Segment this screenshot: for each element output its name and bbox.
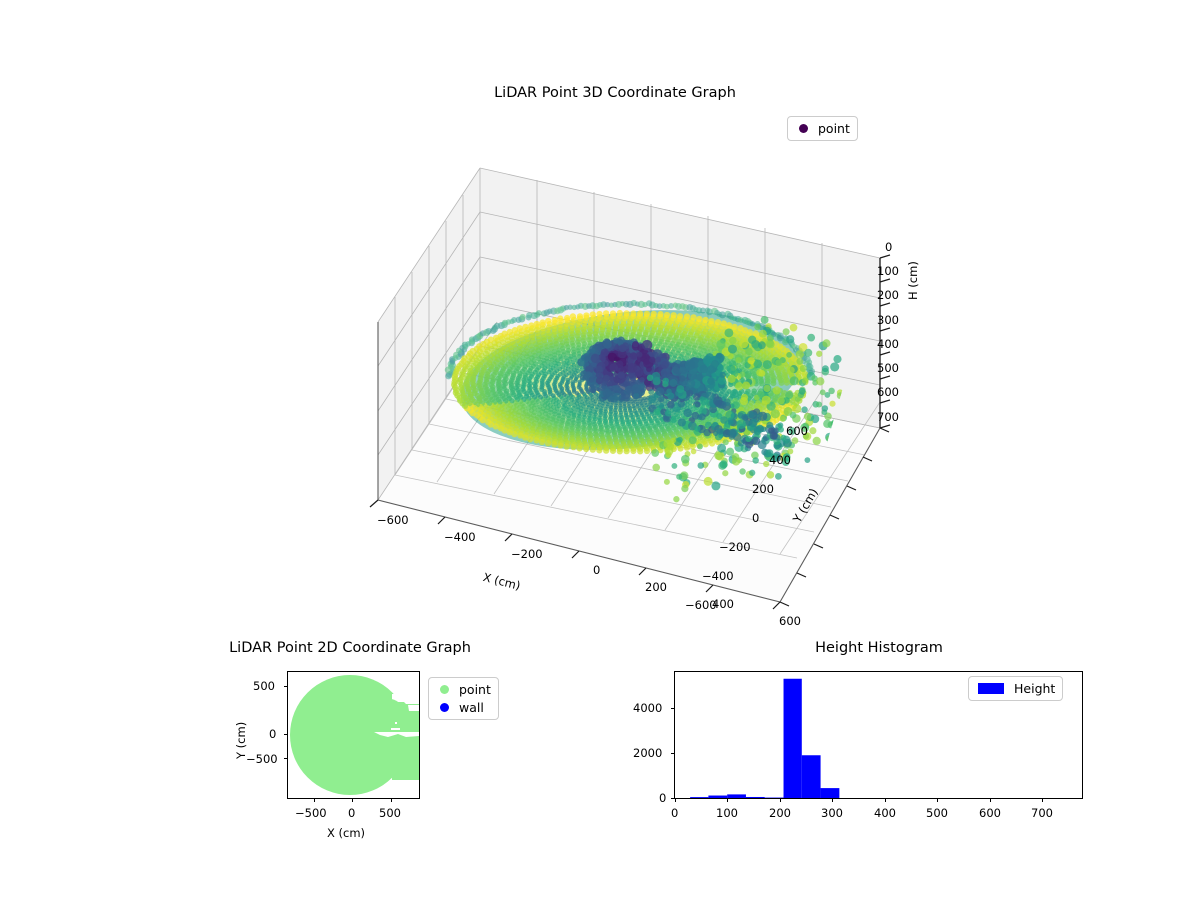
ytick-400: 400 [769,453,791,467]
ztick-200: 200 [877,288,899,302]
ytick--600: −600 [685,598,717,612]
xtick--600: −600 [377,513,409,527]
tick-hist-x-400 [885,799,886,802]
histogram-bar [727,794,746,798]
histogram-bars [690,679,839,798]
legend-item-point[interactable]: point [436,682,491,697]
ztick-700: 700 [877,410,899,424]
ytick-2d-0: 0 [269,727,276,741]
tick-hist-x-300 [832,799,833,802]
tick-hist-x-600 [990,799,991,802]
histogram-bar [690,797,708,798]
xtick-hist-0: 0 [671,806,678,820]
panel-3d-title: LiDAR Point 3D Coordinate Graph [415,85,815,101]
xtick--400: −400 [444,530,476,544]
panel-2d-title: LiDAR Point 2D Coordinate Graph [205,640,495,656]
lidar-3d-scatter-axes[interactable] [300,110,920,610]
ytick-2d-500: 500 [253,679,275,693]
histogram-bar [746,797,765,798]
ytick-600: 600 [786,424,808,438]
point-returns [290,675,419,795]
y-axis-label-2d: Y (cm) [234,722,248,759]
histogram-bar [821,788,840,798]
xtick-0: 0 [593,563,600,577]
tick-hist-x-500 [937,799,938,802]
x-axis-label-2d: X (cm) [327,826,365,840]
xtick-2d-500: 500 [379,806,401,820]
xtick-hist-200: 200 [769,806,791,820]
tick-2d-x-0 [352,799,353,802]
xtick-2d--500: −500 [295,806,327,820]
panel-2d-legend[interactable]: point wall [428,677,499,720]
panel-hist-legend[interactable]: Height [968,676,1063,701]
xtick-200: 200 [645,580,667,594]
xtick--200: −200 [511,547,543,561]
ytick-hist-4000: 4000 [633,701,662,715]
z-axis-label: H (cm) [906,261,920,300]
tick-hist-x-200 [780,799,781,802]
point-marker-icon [440,685,449,694]
panel-hist-title: Height Histogram [779,640,979,656]
tick-hist-y-2000 [671,753,674,754]
xtick-600: 600 [779,614,801,628]
tick-2d-y--500 [284,758,287,759]
lidar-3d-canvas [300,110,920,610]
legend-label: point [459,682,491,697]
ztick-400: 400 [877,337,899,351]
ztick-600: 600 [877,385,899,399]
histogram-bar [784,679,802,798]
xtick-hist-600: 600 [979,806,1001,820]
figure-canvas: LiDAR Point 3D Coordinate Graph point [0,0,1200,900]
ytick--400: −400 [702,569,734,583]
ytick-200: 200 [752,482,774,496]
xtick-hist-100: 100 [716,806,738,820]
ztick-0: 0 [885,240,892,254]
ytick--200: −200 [719,540,751,554]
xtick-hist-300: 300 [821,806,843,820]
tick-hist-y-4000 [671,708,674,709]
height-patch-icon [978,683,1004,694]
ytick-2d--500: −500 [246,752,278,766]
lidar-2d-scatter-axes[interactable] [287,671,420,799]
legend-label: wall [459,700,484,715]
xtick-2d-0: 0 [348,806,355,820]
xtick-hist-500: 500 [926,806,948,820]
tick-hist-x-0 [675,799,676,802]
tick-2d-y-0 [284,734,287,735]
ztick-500: 500 [877,361,899,375]
wall-marker-icon [440,703,449,712]
tick-hist-x-100 [727,799,728,802]
lidar-2d-canvas [288,672,419,798]
histogram-bar [708,796,727,798]
ztick-100: 100 [877,264,899,278]
histogram-bar [802,755,821,798]
ztick-300: 300 [877,313,899,327]
tick-2d-x--500 [314,799,315,802]
xtick-hist-400: 400 [874,806,896,820]
tick-2d-y-500 [284,686,287,687]
tick-hist-x-700 [1042,799,1043,802]
ytick-hist-2000: 2000 [633,746,662,760]
ytick-0: 0 [752,511,759,525]
legend-label: Height [1014,681,1055,696]
tick-2d-x-500 [391,799,392,802]
legend-item-height[interactable]: Height [976,681,1055,696]
tick-hist-y-0 [671,798,674,799]
ytick-hist-0: 0 [659,791,666,805]
legend-item-wall[interactable]: wall [436,700,491,715]
xtick-hist-700: 700 [1031,806,1053,820]
